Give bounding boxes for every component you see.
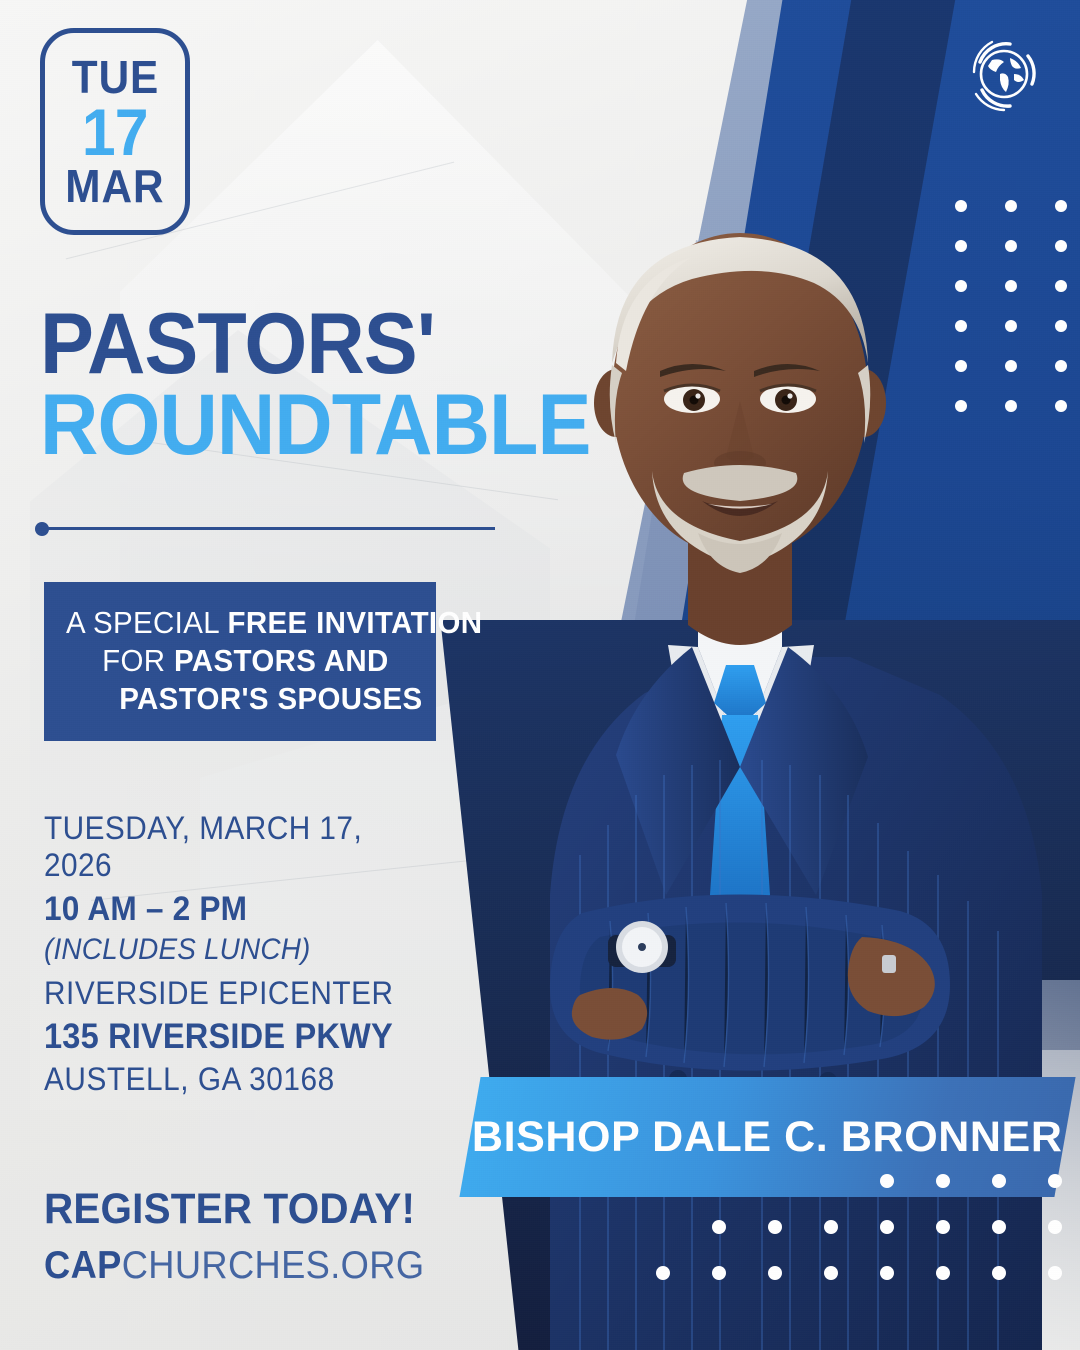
venue-name: RIVERSIDE EPICENTER bbox=[44, 975, 435, 1012]
date-day: 17 bbox=[82, 102, 148, 163]
title-divider bbox=[35, 520, 495, 534]
globe-icon bbox=[958, 28, 1050, 120]
cta-headline: REGISTER TODAY! bbox=[44, 1185, 448, 1234]
venue-city-state-zip: AUSTELL, GA 30168 bbox=[44, 1061, 435, 1098]
venue-block: RIVERSIDE EPICENTER 135 RIVERSIDE PKWY A… bbox=[44, 975, 464, 1098]
dot-grid-bottom-right bbox=[656, 1174, 1062, 1312]
invitation-line-1: A SPECIAL FREE INVITATION bbox=[66, 604, 393, 642]
invitation-line-1-plain: A SPECIAL bbox=[66, 605, 228, 640]
schedule-date: TUESDAY, MARCH 17, 2026 bbox=[44, 810, 435, 884]
title-line-2: ROUNDTABLE bbox=[40, 386, 529, 465]
date-month: MAR bbox=[65, 165, 164, 207]
invitation-line-3-bold: PASTOR'S SPOUSES bbox=[119, 681, 422, 716]
schedule-block: TUESDAY, MARCH 17, 2026 10 AM – 2 PM (IN… bbox=[44, 810, 464, 967]
venue-street: 135 RIVERSIDE PKWY bbox=[44, 1017, 435, 1057]
page-title: PASTORS' ROUNDTABLE bbox=[40, 305, 560, 465]
url-prefix: CAP bbox=[44, 1244, 122, 1287]
invitation-line-2-plain: FOR bbox=[102, 643, 174, 678]
dot-grid-top-right bbox=[955, 200, 1067, 440]
invitation-line-1-bold: FREE INVITATION bbox=[228, 605, 483, 640]
registration-url[interactable]: CAPCHURCHES.ORG bbox=[44, 1244, 444, 1288]
speaker-name: BISHOP DALE C. BRONNER bbox=[472, 1113, 1063, 1162]
schedule-note: (INCLUDES LUNCH) bbox=[44, 933, 435, 967]
date-weekday: TUE bbox=[71, 56, 158, 98]
schedule-time: 10 AM – 2 PM bbox=[44, 890, 435, 929]
invitation-line-2-bold: PASTORS AND bbox=[174, 643, 389, 678]
date-badge: TUE 17 MAR bbox=[40, 28, 190, 235]
invitation-box: A SPECIAL FREE INVITATION FOR PASTORS AN… bbox=[44, 582, 436, 741]
invitation-line-3: PASTOR'S SPOUSES bbox=[66, 680, 393, 718]
title-line-1: PASTORS' bbox=[40, 305, 529, 384]
event-flyer: TUE 17 MAR PASTORS' ROUNDTABLE bbox=[0, 0, 1080, 1350]
invitation-line-2: FOR PASTORS AND bbox=[66, 642, 393, 680]
call-to-action: REGISTER TODAY! CAPCHURCHES.ORG bbox=[44, 1185, 474, 1288]
divider-rule bbox=[45, 527, 495, 530]
url-suffix: CHURCHES.ORG bbox=[122, 1244, 425, 1287]
